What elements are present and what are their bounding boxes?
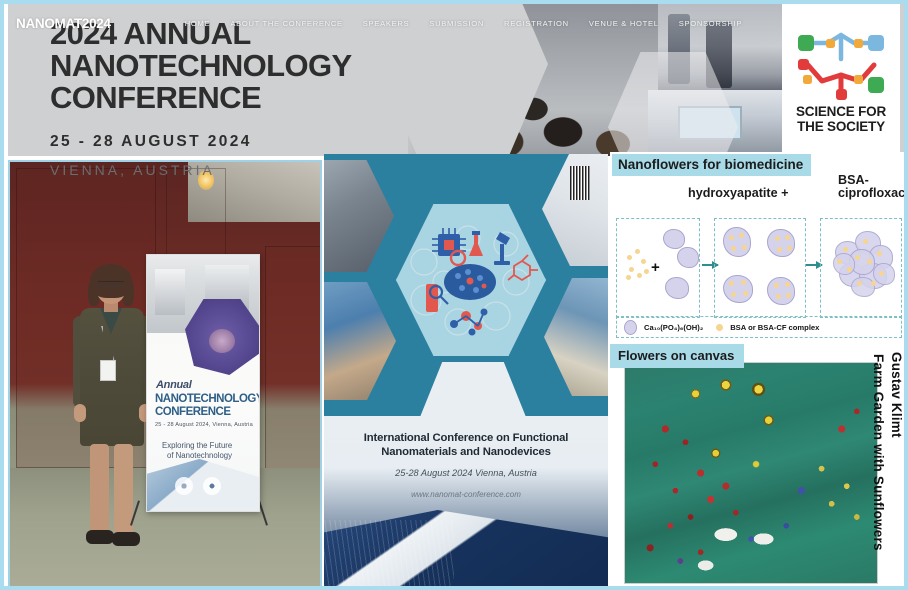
wall-panel bbox=[265, 246, 321, 476]
hero-title-line-3: CONFERENCE bbox=[50, 82, 450, 114]
shoe-left bbox=[86, 530, 114, 544]
hero-title-line-2: NANOTECHNOLOGY bbox=[50, 50, 450, 82]
nav-menu[interactable]: HOME ABOUT THE CONFERENCE SPEAKERS SUBMI… bbox=[185, 19, 742, 28]
rollup-tagline-line-2: of Nanotechnology bbox=[167, 451, 232, 460]
klimt-title: Flowers on canvas bbox=[610, 344, 744, 368]
logo-line-2: THE SOCIETY bbox=[796, 120, 886, 135]
nanoflowers-legend: Ca₁₀(PO₄)₆(OH)₂ BSA or BSA-CF complex bbox=[616, 316, 902, 338]
rollup-dates: 25 - 28 August 2024, Vienna, Austria bbox=[155, 422, 253, 428]
rollup-molecule-icon bbox=[209, 329, 235, 353]
rollup-tagline-line-1: Exploring the Future bbox=[162, 441, 232, 450]
logo-line-1: SCIENCE FOR bbox=[796, 105, 886, 120]
hand-left bbox=[74, 404, 86, 422]
legend-blob-icon bbox=[624, 320, 637, 335]
klimt-artwork-title: Farm Garden with Sunflowers bbox=[871, 354, 886, 551]
barcode-icon bbox=[570, 166, 590, 200]
site-logo-text[interactable]: NANOMAT2024 bbox=[16, 16, 111, 31]
poster-website-url: www.nanomat-conference.com bbox=[324, 490, 608, 499]
nav-item-submission[interactable]: SUBMISSION bbox=[429, 19, 484, 28]
photo-attendee-with-rollup-banner: Annual NANOTECHNOLOGY CONFERENCE 25 - 28… bbox=[8, 160, 322, 590]
nav-item-venue-hotel[interactable]: VENUE & HOTEL bbox=[589, 19, 659, 28]
rollup-title-line-2: CONFERENCE bbox=[155, 406, 231, 418]
right-column: Nanoflowers for biomedicine hydroxyapati… bbox=[610, 152, 908, 590]
hero-location: VIENNA, AUSTRIA bbox=[50, 162, 450, 178]
leg-right bbox=[114, 444, 133, 534]
legend-label-bsa: BSA or BSA-CF complex bbox=[730, 323, 819, 332]
synthesis-step-1: + bbox=[616, 218, 700, 318]
nanoflowers-reagent-left: hydroxyapatite + bbox=[688, 186, 788, 200]
klimt-painting-image bbox=[624, 362, 878, 584]
leg-left bbox=[90, 444, 109, 534]
legend-dot-icon bbox=[716, 324, 723, 331]
nav-item-sponsorship[interactable]: SPONSORSHIP bbox=[679, 19, 742, 28]
nanoflowers-reagent-right: BSA-ciprofloxacin bbox=[838, 174, 908, 200]
site-navigation[interactable]: NANOMAT2024 HOME ABOUT THE CONFERENCE SP… bbox=[8, 12, 908, 34]
plus-icon: + bbox=[651, 259, 660, 276]
rollup-annual-label: Annual bbox=[156, 379, 191, 391]
hero-headline: 2024 ANNUAL NANOTECHNOLOGY CONFERENCE 25… bbox=[50, 18, 450, 178]
klimt-artist-name: Gustav Klimt bbox=[889, 352, 904, 438]
poster-science-icons bbox=[396, 204, 546, 356]
photo-conference-poster-cover: International Conference on Functional N… bbox=[324, 154, 608, 590]
poster-title-line-2: Nanomaterials and Nanodevices bbox=[324, 446, 608, 458]
conference-badge bbox=[100, 360, 116, 381]
synthesis-step-3 bbox=[820, 218, 902, 318]
attendee-figure bbox=[70, 264, 156, 564]
network-nodes-icon bbox=[792, 25, 890, 103]
poster-dates-location: 25-28 August 2024 Vienna, Austria bbox=[324, 468, 608, 478]
logo-wordmark: SCIENCE FOR THE SOCIETY bbox=[796, 105, 886, 134]
poster-title-line-1: International Conference on Functional bbox=[324, 432, 608, 444]
hero-dates: 25 - 28 AUGUST 2024 bbox=[50, 133, 450, 151]
nav-item-about[interactable]: ABOUT THE CONFERENCE bbox=[230, 19, 342, 28]
synthesis-step-2 bbox=[714, 218, 806, 318]
nav-item-speakers[interactable]: SPEAKERS bbox=[363, 19, 410, 28]
rollup-title-line-1: NANOTECHNOLOGY bbox=[155, 393, 260, 405]
klimt-card: Flowers on canvas Gustav Klimt Farm Gard… bbox=[610, 344, 908, 590]
nanoflowers-title: Nanoflowers for biomedicine bbox=[612, 154, 811, 176]
legend-label-hydroxyapatite: Ca₁₀(PO₄)₆(OH)₂ bbox=[644, 323, 703, 332]
rollup-banner: Annual NANOTECHNOLOGY CONFERENCE 25 - 28… bbox=[146, 254, 260, 512]
glasses-icon bbox=[98, 281, 124, 287]
nav-item-registration[interactable]: REGISTRATION bbox=[504, 19, 569, 28]
rollup-partner-logo-2 bbox=[203, 477, 221, 495]
nav-item-home[interactable]: HOME bbox=[185, 19, 211, 28]
conference-poster-page: NANOMAT2024 HOME ABOUT THE CONFERENCE SP… bbox=[0, 0, 908, 590]
nanoflowers-card: Nanoflowers for biomedicine hydroxyapati… bbox=[610, 152, 908, 344]
rollup-partner-logo-1 bbox=[175, 477, 193, 495]
poster-wave-lines bbox=[324, 520, 454, 590]
shoe-right bbox=[112, 532, 140, 546]
